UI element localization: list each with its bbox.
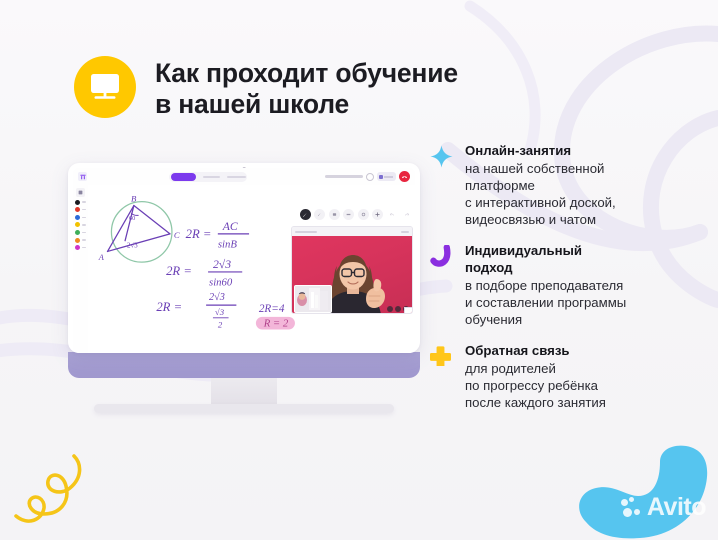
median-line: [125, 206, 134, 241]
color-swatch-black[interactable]: [75, 200, 80, 205]
stroke-width-indicator: [82, 201, 86, 203]
pen-tool-icon[interactable]: [300, 209, 311, 220]
side-bc: [134, 206, 170, 234]
app-logo-icon: [78, 172, 87, 181]
undo-tool-icon[interactable]: [387, 209, 398, 220]
yellow-loop-squiggle: [14, 450, 106, 530]
video-panel-header: [292, 227, 412, 236]
feature-desc-line: и составлении программы: [465, 294, 710, 311]
video-stage: [292, 236, 412, 314]
palette-swatch-row[interactable]: [75, 238, 86, 243]
app-window: B A C 60 2√3 2R = AC sinB: [73, 168, 415, 353]
stroke-width-indicator: [82, 247, 86, 249]
redo-tool-icon[interactable]: [401, 209, 412, 220]
monitor-mockup: B A C 60 2√3 2R = AC sinB: [68, 163, 420, 413]
feature-desc-line: видеосвязью и чатом: [465, 211, 710, 228]
color-swatch-blue[interactable]: [75, 215, 80, 220]
palette-swatch-row[interactable]: [75, 215, 86, 220]
rail-tool-button[interactable]: [76, 188, 85, 197]
gear-icon[interactable]: [366, 173, 374, 181]
video-panel-title: [295, 231, 317, 233]
monitor-screen-icon: [74, 56, 136, 118]
stroke-width-indicator: [82, 217, 86, 219]
blue-curved-blob: [568, 444, 718, 540]
segment-tab-active[interactable]: [171, 173, 196, 181]
circumscribed-circle: [111, 202, 172, 263]
palette-swatch-row[interactable]: [75, 200, 86, 205]
label-vertex-c: C: [174, 230, 180, 240]
color-swatch-green[interactable]: [75, 230, 80, 235]
plus-icon: [430, 343, 456, 411]
stroke-width-indicator: [82, 224, 86, 226]
video-control-camera-icon: [395, 306, 401, 312]
pencil-tool-icon[interactable]: [314, 209, 325, 220]
feature-desc-line: в подборе преподавателя: [465, 277, 710, 294]
whiteboard-canvas[interactable]: B A C 60 2√3 2R = AC sinB: [88, 185, 415, 353]
participants-chip[interactable]: [377, 172, 396, 181]
feature-item-online-lessons: Онлайн-занятия на нашей собственной плат…: [430, 143, 710, 228]
self-view-thumbnail[interactable]: [294, 285, 332, 313]
label-vertex-a: A: [98, 253, 105, 262]
hangup-call-icon[interactable]: [399, 171, 410, 182]
color-swatch-red[interactable]: [75, 207, 80, 212]
step2-denominator: sin60: [209, 277, 233, 289]
feature-list: Онлайн-занятия на нашей собственной плат…: [430, 143, 710, 412]
add-tool-icon[interactable]: [372, 209, 383, 220]
page-title-line-1: Как проходит обучение: [155, 58, 458, 89]
color-swatch-orange[interactable]: [75, 238, 80, 243]
slide-canvas: Как проходит обучение в нашей школе Онла…: [0, 0, 718, 540]
crescent-hook-icon: [430, 243, 456, 328]
step2-numerator: 2√3: [213, 258, 231, 271]
label-side-2root3: 2√3: [127, 242, 138, 250]
monitor-screen: B A C 60 2√3 2R = AC sinB: [68, 163, 420, 353]
step1-lhs: 2R =: [186, 227, 212, 241]
stroke-width-indicator: [82, 232, 86, 234]
stroke-width-indicator: [82, 209, 86, 211]
monitor-base: [94, 404, 394, 413]
shapes-tool-icon[interactable]: [343, 209, 354, 220]
app-main: B A C 60 2√3 2R = AC sinB: [73, 185, 415, 353]
monitor-neck: [211, 378, 277, 404]
feature-desc-line: платформе: [465, 177, 710, 194]
avito-watermark: Avito: [621, 495, 706, 520]
step3-inner-numerator: √3: [215, 307, 225, 317]
label-angle-60: 60: [129, 215, 135, 222]
video-control-mic-icon: [387, 306, 393, 312]
feature-title: Онлайн-занятия: [465, 143, 710, 160]
four-point-star-icon: [430, 143, 456, 228]
page-title-line-2: в нашей школе: [155, 89, 458, 120]
avito-dots-icon: [621, 497, 643, 519]
avito-watermark-text: Avito: [647, 495, 706, 520]
feature-desc-line: для родителей: [465, 360, 710, 377]
eraser-tool-icon[interactable]: [329, 209, 340, 220]
app-topbar-right: [325, 171, 410, 182]
mode-segmented-control[interactable]: [169, 172, 247, 182]
feature-desc-line: обучения: [465, 311, 710, 328]
monitor-chin: [68, 352, 420, 378]
tool-rail: [73, 185, 88, 353]
palette-swatch-row[interactable]: [75, 207, 86, 212]
app-topbar: [73, 168, 415, 185]
feature-desc-line: с интерактивной доской,: [465, 194, 710, 211]
monitor-glyph: [88, 72, 122, 102]
result-2r: 2R=4: [259, 303, 285, 315]
feature-desc-line: на нашей собственной: [465, 160, 710, 177]
palette-swatch-row[interactable]: [75, 245, 86, 250]
segment-tab[interactable]: [227, 176, 246, 178]
step3-inner-denominator: 2: [218, 320, 223, 330]
feature-title: Обратная связь: [465, 343, 710, 360]
step3-numerator: 2√3: [209, 291, 225, 303]
step2-lhs: 2R =: [166, 264, 192, 278]
drawing-toolbar[interactable]: [300, 209, 413, 220]
text-tool-icon[interactable]: [358, 209, 369, 220]
step1-numerator: AC: [222, 220, 238, 233]
feature-item-feedback: Обратная связь для родителей по прогресс…: [430, 343, 710, 411]
segment-tab[interactable]: [203, 176, 220, 178]
color-swatch-magenta[interactable]: [75, 245, 80, 250]
feature-item-individual-approach: Индивидуальный подход в подборе преподав…: [430, 243, 710, 328]
stroke-width-indicator: [82, 239, 86, 241]
feature-desc-line: по прогрессу ребёнка: [465, 377, 710, 394]
feature-title: подход: [465, 260, 710, 277]
side-ac: [108, 234, 170, 252]
feature-title: Индивидуальный: [465, 243, 710, 260]
page-header: Как проходит обучение в нашей школе: [74, 56, 458, 120]
color-swatch-yellow[interactable]: [75, 222, 80, 227]
step1-denominator: sinB: [218, 239, 238, 251]
page-title: Как проходит обучение в нашей школе: [155, 56, 458, 120]
video-panel-menu-icon[interactable]: [401, 231, 409, 233]
session-label: [325, 175, 363, 178]
panel-resize-handle[interactable]: [404, 307, 412, 314]
step3-lhs: 2R =: [156, 300, 182, 314]
result-r: R = 2: [263, 318, 289, 330]
label-vertex-b: B: [131, 194, 137, 204]
feature-desc-line: после каждого занятия: [465, 394, 710, 411]
palette-swatch-row[interactable]: [75, 222, 86, 227]
palette-swatch-row[interactable]: [75, 230, 86, 235]
video-call-panel[interactable]: [291, 226, 413, 314]
